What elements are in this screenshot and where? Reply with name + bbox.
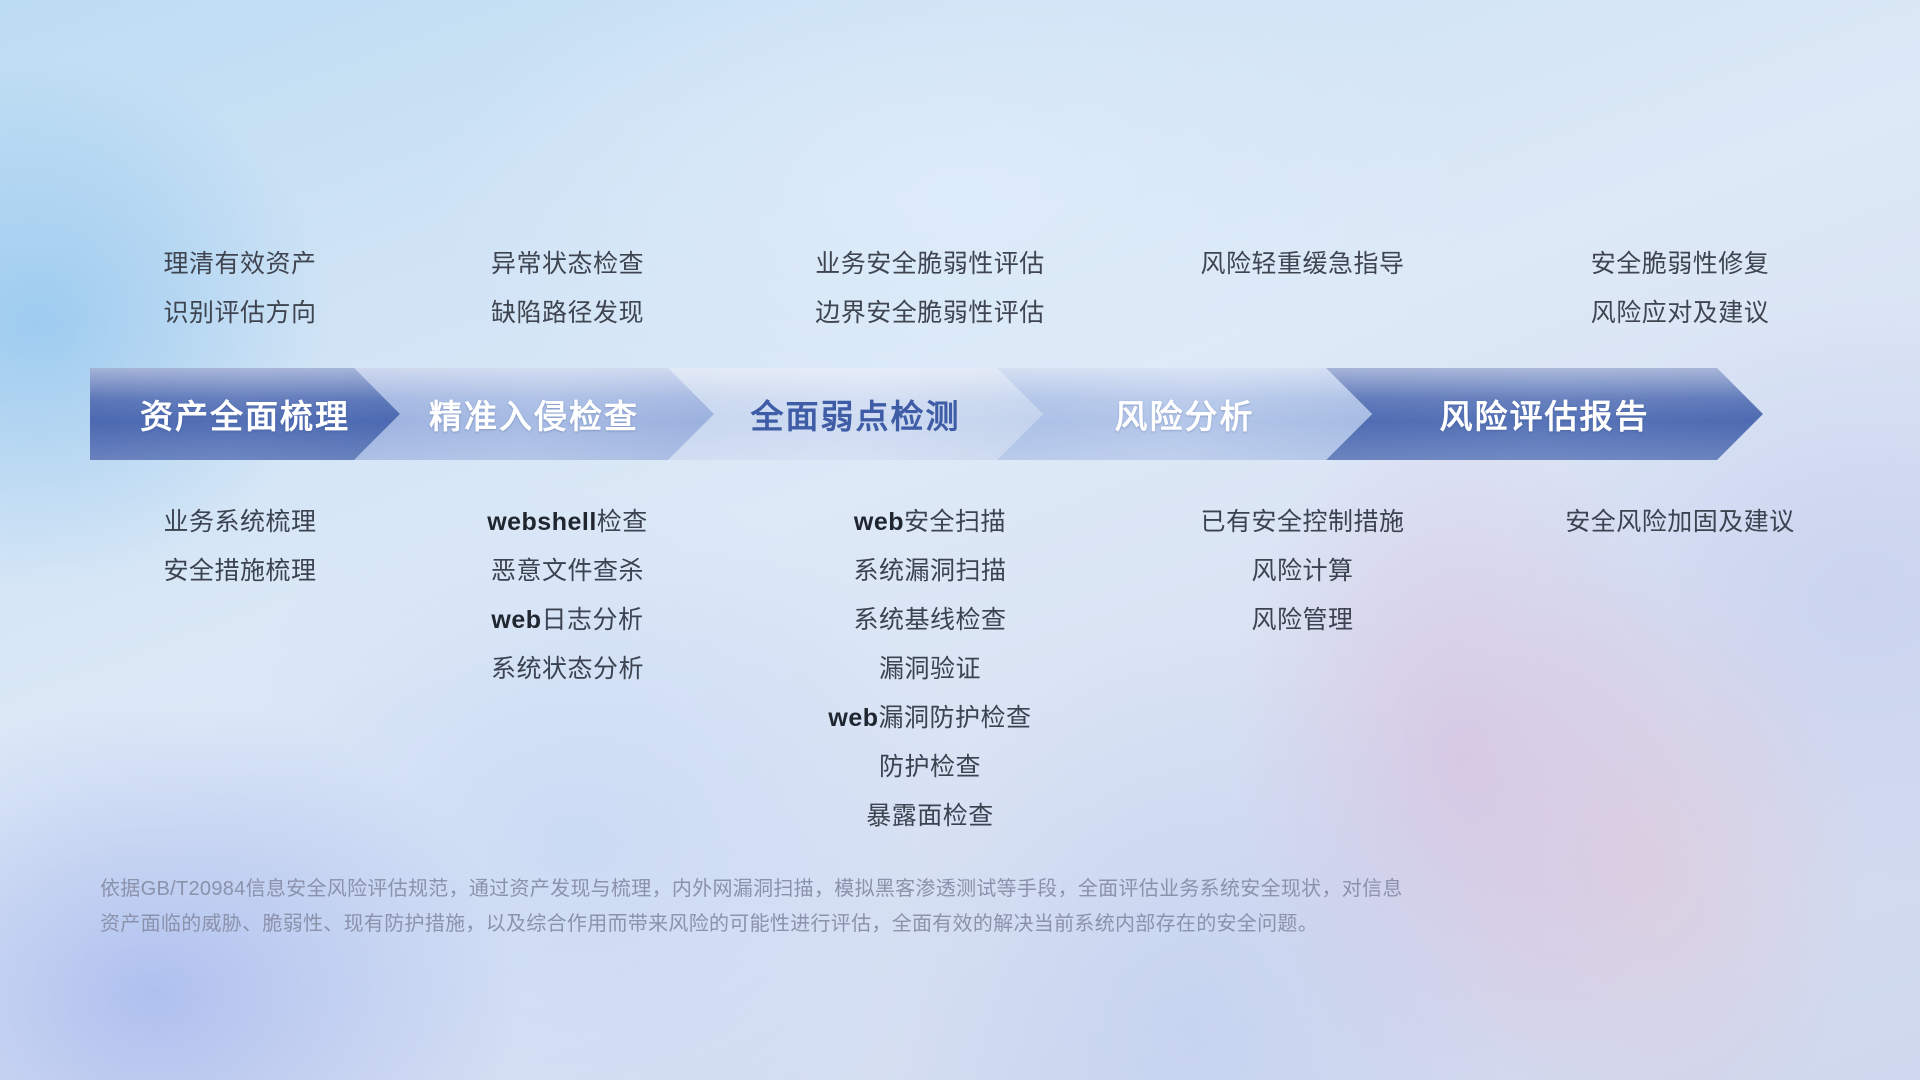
stage-items-col-3: web安全扫描 系统漏洞扫描 系统基线检查 漏洞验证 web漏洞防护检查 防护检… xyxy=(745,498,1115,841)
chevron-label: 全面弱点检测 xyxy=(751,390,961,438)
chevron-label: 精准入侵检查 xyxy=(429,390,639,438)
stage-items-col-4: 已有安全控制措施 风险计算 风险管理 xyxy=(1115,498,1490,645)
list-item: 系统状态分析 xyxy=(390,645,745,694)
list-item: 业务系统梳理 xyxy=(90,498,390,547)
list-item: 风险计算 xyxy=(1115,547,1490,596)
list-item: web漏洞防护检查 xyxy=(745,694,1115,743)
top-note: 缺陷路径发现 xyxy=(390,289,745,338)
list-item-prefix: web xyxy=(491,606,541,634)
chevron-stage-3[interactable]: 全面弱点检测 xyxy=(668,368,1043,460)
list-item-rest: 安全扫描 xyxy=(904,508,1006,536)
chevron-label: 资产全面梳理 xyxy=(140,390,350,438)
list-item-prefix: web xyxy=(828,704,878,732)
chevron-stage-5[interactable]: 风险评估报告 xyxy=(1326,368,1763,460)
process-chevron-band: 资产全面梳理 精准入侵检查 全面弱点检测 风险分析 风险评估报告 xyxy=(90,368,1855,460)
list-item: webshell检查 xyxy=(390,498,745,547)
top-note: 业务安全脆弱性评估 xyxy=(745,240,1115,289)
chevron-stage-1[interactable]: 资产全面梳理 xyxy=(90,368,400,460)
list-item: 安全措施梳理 xyxy=(90,547,390,596)
stage-items-col-1: 业务系统梳理 安全措施梳理 xyxy=(90,498,390,596)
top-notes-col-4: 风险轻重缓急指导 xyxy=(1115,240,1490,338)
chevron-stage-2[interactable]: 精准入侵检查 xyxy=(354,368,714,460)
top-note: 理清有效资产 xyxy=(90,240,390,289)
risk-assessment-process-slide: { "colors": { "chevron_dark": "#4a68b0",… xyxy=(0,0,1920,1080)
top-notes-col-1: 理清有效资产 识别评估方向 xyxy=(90,240,390,338)
list-item-rest: 日志分析 xyxy=(542,606,644,634)
top-notes-row: 理清有效资产 识别评估方向 异常状态检查 缺陷路径发现 业务安全脆弱性评估 边界… xyxy=(90,240,1870,338)
list-item: 风险管理 xyxy=(1115,596,1490,645)
top-note: 风险应对及建议 xyxy=(1490,289,1870,338)
list-item: 已有安全控制措施 xyxy=(1115,498,1490,547)
top-notes-col-5: 安全脆弱性修复 风险应对及建议 xyxy=(1490,240,1870,338)
top-note: 边界安全脆弱性评估 xyxy=(745,289,1115,338)
list-item-prefix: webshell xyxy=(487,508,597,536)
chevron-label: 风险评估报告 xyxy=(1440,390,1650,438)
list-item: 系统漏洞扫描 xyxy=(745,547,1115,596)
list-item: web安全扫描 xyxy=(745,498,1115,547)
list-item: 恶意文件查杀 xyxy=(390,547,745,596)
top-note: 识别评估方向 xyxy=(90,289,390,338)
stage-items-col-5: 安全风险加固及建议 xyxy=(1490,498,1870,547)
top-note: 风险轻重缓急指导 xyxy=(1115,240,1490,289)
chevron-label: 风险分析 xyxy=(1115,390,1255,438)
list-item: 漏洞验证 xyxy=(745,645,1115,694)
list-item: 暴露面检查 xyxy=(745,792,1115,841)
footer-line-1: 依据GB/T20984信息安全风险评估规范，通过资产发现与梳理，内外网漏洞扫描，… xyxy=(100,872,1660,907)
list-item: 安全风险加固及建议 xyxy=(1490,498,1870,547)
footer-line-2: 资产面临的威胁、脆弱性、现有防护措施，以及综合作用而带来风险的可能性进行评估，全… xyxy=(100,907,1660,942)
chevron-stage-4[interactable]: 风险分析 xyxy=(997,368,1372,460)
top-notes-col-3: 业务安全脆弱性评估 边界安全脆弱性评估 xyxy=(745,240,1115,338)
top-note: 安全脆弱性修复 xyxy=(1490,240,1870,289)
list-item-prefix: web xyxy=(854,508,904,536)
list-item-rest: 漏洞防护检查 xyxy=(879,704,1032,732)
list-item-rest: 检查 xyxy=(597,508,648,536)
list-item: web日志分析 xyxy=(390,596,745,645)
top-notes-col-2: 异常状态检查 缺陷路径发现 xyxy=(390,240,745,338)
stage-items-row: 业务系统梳理 安全措施梳理 webshell检查 恶意文件查杀 web日志分析 … xyxy=(90,498,1870,841)
top-note: 异常状态检查 xyxy=(390,240,745,289)
list-item: 防护检查 xyxy=(745,743,1115,792)
footer-description: 依据GB/T20984信息安全风险评估规范，通过资产发现与梳理，内外网漏洞扫描，… xyxy=(100,872,1660,942)
list-item: 系统基线检查 xyxy=(745,596,1115,645)
stage-items-col-2: webshell检查 恶意文件查杀 web日志分析 系统状态分析 xyxy=(390,498,745,694)
